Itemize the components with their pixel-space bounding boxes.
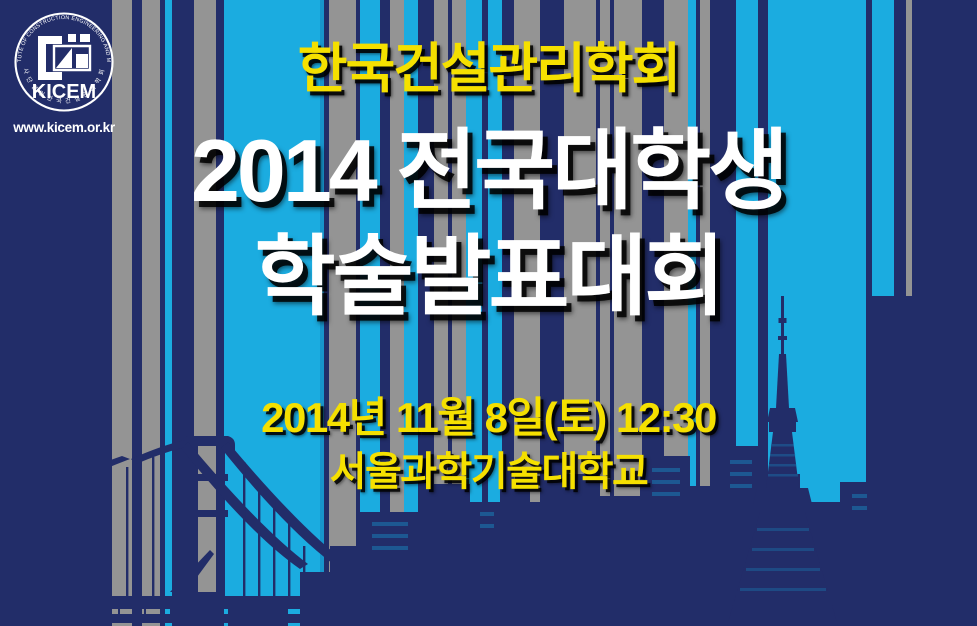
society-name: 한국건설관리학회 xyxy=(0,42,977,96)
main-title-line-2: 학술발표대회 xyxy=(0,233,977,321)
event-poster: KOREA INSTITUTE OF CONSTRUCTION ENGINEER… xyxy=(0,0,977,626)
event-venue: 서울과학기술대학교 xyxy=(0,452,977,492)
main-title-line-1: 2014 전국대학생 xyxy=(0,127,977,215)
event-datetime: 2014년 11월 8일(토) 12:30 xyxy=(0,397,977,439)
